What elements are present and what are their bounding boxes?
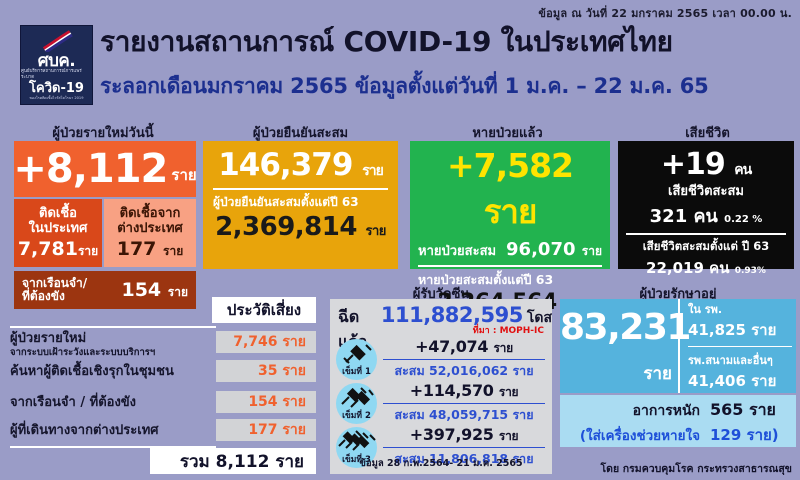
dose-3-rule xyxy=(383,447,545,448)
risk-row-label-3: ผู้ที่เดินทางจากต่างประเทศ xyxy=(10,424,210,438)
confirmed-unit: ราย xyxy=(362,163,383,179)
risk-row-label-text-1: ค้นหาผู้ติดเชื้อเชิงรุกในชุมชน xyxy=(10,364,174,379)
deaths-since-value: 22,019 xyxy=(646,259,704,277)
deaths-value: +19 xyxy=(661,147,725,182)
risk-history-top-rule xyxy=(10,326,216,328)
treating-divider xyxy=(688,346,792,347)
risk-row-sublabel-0: จากระบบเฝ้าระวังและระบบบริการฯ xyxy=(10,346,210,360)
syringe-2-label: เข็มที่ 2 xyxy=(342,408,371,424)
logo-acronym: ศบค. xyxy=(38,53,75,69)
confirmed-since-label: ผู้ป่วยยืนยันสะสมตั้งแต่ปี 63 xyxy=(213,193,388,212)
recovered-card: +7,582 ราย หายป่วยสะสม 96,070 ราย หายป่ว… xyxy=(410,141,610,269)
confirmed-cases-card: 146,379 ราย ผู้ป่วยยืนยันสะสมตั้งแต่ปี 6… xyxy=(203,141,398,269)
logo-covid-text: โควิด-19 xyxy=(29,81,84,96)
new-cases-unit: ราย xyxy=(171,163,196,187)
dose-2-new: +114,570 xyxy=(410,381,494,400)
infographic-page: ข้อมูล ณ วันที่ 22 มกราคม 2565 เวลา 00.0… xyxy=(0,0,800,480)
vaccine-dose-1: เข็มที่ 1 +47,074 ราย สะสม 52,016,062 รา… xyxy=(336,337,548,381)
imported-value: 177 xyxy=(117,238,157,260)
dose-3-new: +397,925 xyxy=(410,425,494,444)
recovered-acc-unit: ราย xyxy=(582,244,602,258)
new-cases-value: +8,112 xyxy=(13,146,167,192)
deaths-card: +19 คน เสียชีวิตสะสม 321 คน 0.22 % เสียช… xyxy=(618,141,794,269)
syringe-1-label: เข็มที่ 1 xyxy=(342,364,371,380)
risk-history-total: รวม 8,112 ราย xyxy=(150,448,316,474)
prison-value: 154 xyxy=(121,279,161,301)
risk-row-value-1: 35 ราย xyxy=(216,360,316,382)
imported-unit: ราย xyxy=(163,244,183,258)
recovered-unit: ราย xyxy=(484,192,537,231)
new-cases-card: +8,112 ราย xyxy=(14,141,196,197)
imported-cases-card: ติดเชื้อจาก ต่างประเทศ 177 ราย xyxy=(104,199,196,267)
page-subtitle: ระลอกเดือนมกราคม 2565 ข้อมูลตั้งแต่วันที… xyxy=(100,72,800,100)
confirmed-value: 146,379 xyxy=(218,147,352,183)
vaccine-panel: ฉีดแล้ว 111,882,595 โดส ที่มา : MOPH-IC … xyxy=(330,299,552,474)
risk-row-label-text-2: จากเรือนจำ / ที่ต้องขัง xyxy=(10,395,136,410)
sbc-logo: ศบค. ศูนย์บริหารสถานการณ์การแพร่ระบาด โค… xyxy=(20,25,93,105)
recovered-acc-label: หายป่วยสะสม xyxy=(418,240,496,261)
imported-label-line1: ติดเชื้อจาก xyxy=(120,206,181,221)
hospital-value: 41,825 ราย xyxy=(688,318,796,342)
risk-row-label-1: ค้นหาผู้ติดเชื้อเชิงรุกในชุมชน xyxy=(10,365,210,379)
credit-text: โดย กรมควบคุมโรค กระทรวงสาธารณสุข xyxy=(601,460,792,477)
syringe-3-label: เข็มที่ 3 xyxy=(342,452,371,468)
severe-row: อาการหนัก 565 ราย xyxy=(568,398,788,423)
deaths-acc-unit: คน xyxy=(694,206,718,227)
risk-row-label-text-0: ผู้ป่วยรายใหม่ xyxy=(10,331,86,346)
domestic-label-line2: ในประเทศ xyxy=(29,221,88,236)
dose-1-rule xyxy=(383,359,545,360)
deaths-since-label: เสียชีวิตสะสมตั้งแต่ ปี 63 xyxy=(643,238,770,256)
recovered-value: +7,582 xyxy=(447,146,573,185)
prison-label-line2: ที่ต้องขัง xyxy=(22,290,87,303)
dose-2-acc: สะสม 48,059,715 ราย xyxy=(383,405,545,425)
deaths-acc-pct: 0.22 % xyxy=(724,214,762,225)
logo-subtitle-2: ของโรคติดเชื้อไวรัสโคโรนา 2019 xyxy=(29,96,83,101)
risk-row-value-2: 154 ราย xyxy=(216,391,316,413)
deaths-unit: คน xyxy=(734,162,751,178)
page-title: รายงานสถานการณ์ COVID-19 ในประเทศไทย xyxy=(100,25,800,59)
deaths-divider xyxy=(626,233,786,235)
risk-row-label-text-3: ผู้ที่เดินทางจากต่างประเทศ xyxy=(10,423,159,438)
risk-row-value-3: 177 ราย xyxy=(216,419,316,441)
thai-flag-ribbon-icon xyxy=(40,30,74,52)
severe-value: 565 ราย xyxy=(700,398,788,423)
domestic-cases-card: ติดเชื้อ ในประเทศ 7,781ราย xyxy=(14,199,102,267)
vaccine-source: ที่มา : MOPH-IC xyxy=(473,323,544,337)
treating-total: 83,231 xyxy=(560,307,678,348)
recovered-acc-value: 96,070 xyxy=(506,239,575,260)
prison-cases-card: จากเรือนจำ/ ที่ต้องขัง 154 ราย xyxy=(14,271,196,309)
confirmed-since-unit: ราย xyxy=(366,224,386,239)
recovered-divider xyxy=(418,265,602,267)
deaths-acc-label: เสียชีวิตสะสม xyxy=(668,180,744,201)
risk-row-value-0: 7,746 ราย xyxy=(216,331,316,353)
caption-deaths: เสียชีวิต xyxy=(620,122,795,143)
severe-panel: อาการหนัก 565 ราย (ใส่เครื่องช่วยหายใจ 1… xyxy=(560,395,796,447)
risk-row-label-0: ผู้ป่วยรายใหม่ จากระบบเฝ้าระวังและระบบบร… xyxy=(10,332,210,360)
risk-history-header: ประวัติเสี่ยง xyxy=(212,297,316,323)
ventilator-row: (ใส่เครื่องช่วยหายใจ 129 ราย) xyxy=(568,423,788,447)
field-hospital-label: รพ.สนามและอื่นๆ xyxy=(688,351,796,369)
confirmed-since-value: 2,369,814 xyxy=(215,212,357,242)
hospital-label: ใน รพ. xyxy=(688,300,796,318)
domestic-label-line1: ติดเชื้อ xyxy=(39,206,77,221)
treating-unit: ราย xyxy=(643,360,672,387)
vaccine-dose-2: เข็มที่ 2 +114,570 ราย สะสม 48,059,715 ร… xyxy=(336,381,548,425)
syringe-1-icon: เข็มที่ 1 xyxy=(336,339,377,380)
syringe-3-icon: เข็มที่ 3 xyxy=(336,427,377,468)
deaths-since-pct: 0.93% xyxy=(735,266,766,276)
deaths-since-unit: คน xyxy=(709,259,729,277)
treating-breakdown: ใน รพ. 41,825 ราย รพ.สนามและอื่นๆ 41,406… xyxy=(678,299,796,393)
prison-unit: ราย xyxy=(168,285,188,299)
confirmed-divider xyxy=(213,188,388,190)
caption-confirmed: ผู้ป่วยยืนยันสะสม xyxy=(203,122,398,143)
imported-label-line2: ต่างประเทศ xyxy=(117,221,183,236)
risk-row-label-2: จากเรือนจำ / ที่ต้องขัง xyxy=(10,396,210,410)
as-of-date: ข้อมูล ณ วันที่ 22 มกราคม 2565 เวลา 00.0… xyxy=(538,4,792,22)
dose-2-rule xyxy=(383,403,545,404)
logo-subtitle-1: ศูนย์บริหารสถานการณ์การแพร่ระบาด xyxy=(21,69,92,81)
severe-label: อาการหนัก xyxy=(633,400,700,422)
caption-new-cases: ผู้ป่วยรายใหม่วันนี้ xyxy=(8,122,198,143)
treating-total-block: 83,231 ราย xyxy=(560,299,678,393)
dose-1-acc: สะสม 52,016,062 ราย xyxy=(383,361,545,381)
domestic-unit: ราย xyxy=(78,244,98,258)
caption-recovered: หายป่วยแล้ว xyxy=(410,122,605,143)
domestic-value: 7,781 xyxy=(18,238,78,260)
ventilator-value: 129 ราย) xyxy=(700,423,788,447)
recovered-since-label: หายป่วยสะสมตั้งแต่ปี 63 xyxy=(418,270,602,290)
deaths-acc-value: 321 xyxy=(650,206,688,227)
ventilator-label: (ใส่เครื่องช่วยหายใจ xyxy=(580,424,700,446)
dose-1-new: +47,074 xyxy=(415,337,488,356)
dose-2-new-unit: ราย xyxy=(499,385,518,399)
dose-1-new-unit: ราย xyxy=(494,341,513,355)
dose-3-new-unit: ราย xyxy=(499,429,518,443)
syringe-2-icon: เข็มที่ 2 xyxy=(336,383,377,424)
treating-panel: 83,231 ราย ใน รพ. 41,825 ราย รพ.สนามและอ… xyxy=(560,299,796,393)
field-hospital-value: 41,406 ราย xyxy=(688,369,796,393)
